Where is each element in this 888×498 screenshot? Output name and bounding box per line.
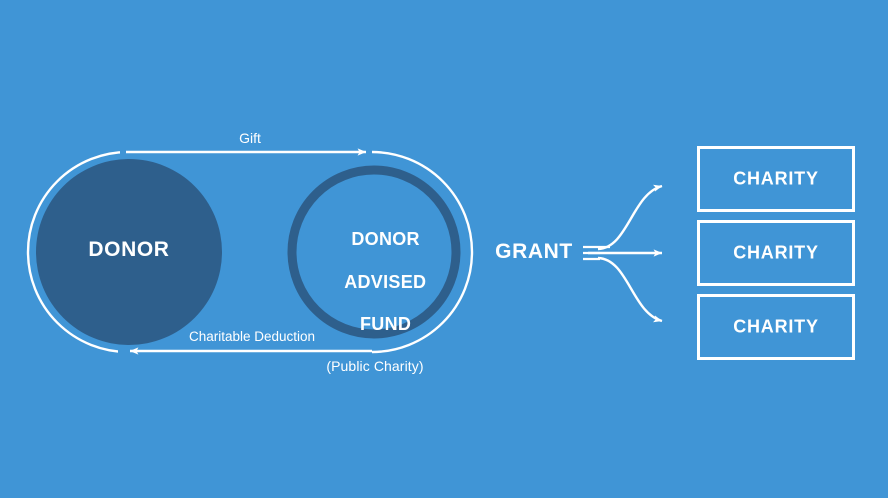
diagram-canvas: DONOR DONOR ADVISED FUND (Public Charity… <box>0 0 888 498</box>
charity-box: CHARITY <box>697 220 855 286</box>
charitable-deduction-arrow-label: Charitable Deduction <box>152 329 352 344</box>
charity-box: CHARITY <box>697 146 855 212</box>
daf-label-group: DONOR ADVISED FUND (Public Charity) <box>290 208 460 417</box>
daf-label-line3: FUND <box>360 314 411 334</box>
charity-box-label: CHARITY <box>700 317 852 338</box>
grant-branch-lower <box>598 258 662 321</box>
charity-box-label: CHARITY <box>700 243 852 264</box>
charity-box: CHARITY <box>697 294 855 360</box>
grant-branch-arrows <box>583 186 662 321</box>
daf-label-line2: ADVISED <box>344 272 426 292</box>
grant-label: GRANT <box>488 240 580 264</box>
daf-label-line1: DONOR <box>351 229 420 249</box>
daf-sublabel: (Public Charity) <box>290 358 460 375</box>
gift-arrow-label: Gift <box>190 131 310 147</box>
charity-box-label: CHARITY <box>700 169 852 190</box>
grant-branch-upper <box>598 186 662 249</box>
donor-label: DONOR <box>36 238 222 262</box>
